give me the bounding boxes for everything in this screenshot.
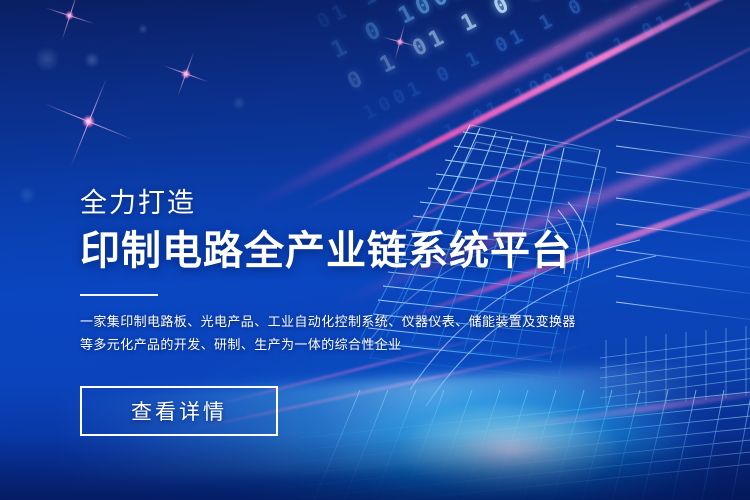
star-sparkle-icon [87,120,90,123]
hero-description: 一家集印制电路板、光电产品、工业自动化控制系统、仪器仪表、储能装置及变换器 等多… [80,310,560,356]
hero-description-line-2: 等多元化产品的开发、研制、生产为一体的综合性企业 [80,333,560,356]
hero-headline: 印制电路全产业链系统平台 [80,230,600,272]
dust-speck [84,52,100,68]
title-divider [80,294,158,296]
dust-speck [18,186,36,204]
hero-content: 全力打造 印制电路全产业链系统平台 一家集印制电路板、光电产品、工业自动化控制系… [80,190,600,436]
hero-banner: — — — — — — — — — — — — — — — — — — — — … [0,0,750,500]
view-details-button[interactable]: 查看详情 [80,386,278,436]
dust-speck [138,24,148,34]
star-sparkle-icon [68,14,71,17]
dust-speck [232,96,246,110]
hero-description-line-1: 一家集印制电路板、光电产品、工业自动化控制系统、仪器仪表、储能装置及变换器 [80,310,560,333]
star-sparkle-icon [184,72,187,75]
hero-eyebrow: 全力打造 [80,190,600,217]
dust-speck [34,46,60,72]
